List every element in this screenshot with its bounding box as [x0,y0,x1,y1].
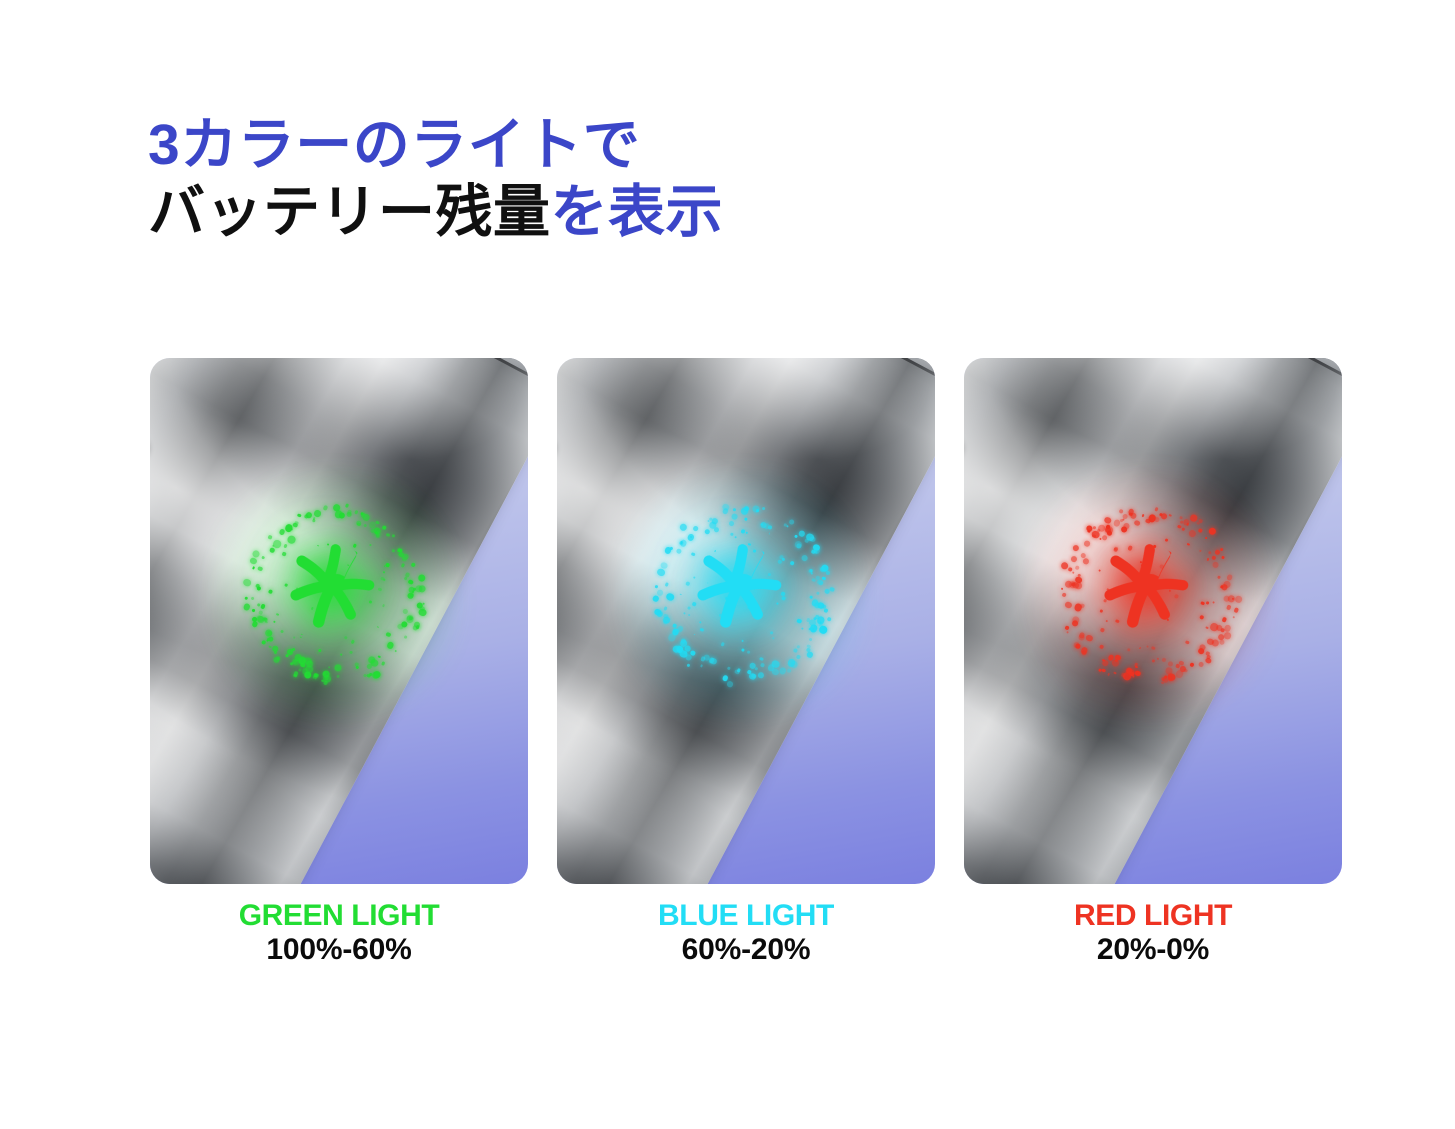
headline-line-1-text: 3カラーのライトで [148,113,640,177]
caption-title-green: GREEN LIGHT [150,900,528,932]
product-card-red[interactable] [964,358,1342,884]
caption-title-red: RED LIGHT [964,900,1342,932]
caption-red: RED LIGHT 20%-0% [964,900,1342,980]
headline-line-2-blue-text: を表示 [551,180,724,244]
product-card-blue[interactable] [557,358,935,884]
caption-range-red: 20%-0% [964,934,1342,966]
caption-range-green: 100%-60% [150,934,528,966]
headline-line-2: バッテリー残量を表示 [148,179,1148,246]
caption-title-blue: BLUE LIGHT [557,900,935,932]
caption-green: GREEN LIGHT 100%-60% [150,900,528,980]
battery-indicator-blue [622,474,863,715]
product-card-green[interactable] [150,358,528,884]
caption-row: GREEN LIGHT 100%-60% BLUE LIGHT 60%-20% … [150,900,1342,980]
caption-blue: BLUE LIGHT 60%-20% [557,900,935,980]
headline-line-2-black-text: バッテリー残量 [148,180,551,244]
caption-range-blue: 60%-20% [557,934,935,966]
headline-line-1: 3カラーのライトで [148,112,1148,179]
product-card-strip [150,358,1342,884]
battery-indicator-green [215,474,456,715]
page-headline: 3カラーのライトで バッテリー残量を表示 [148,112,1148,247]
battery-indicator-red [1029,474,1270,715]
